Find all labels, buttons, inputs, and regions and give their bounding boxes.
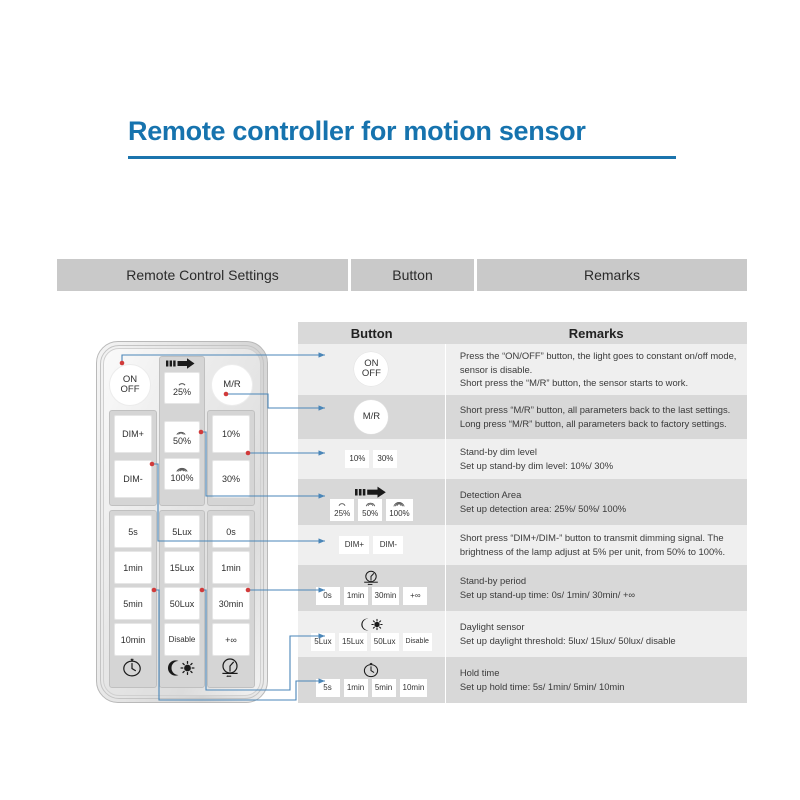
remote-detection-25-label: 25%	[173, 388, 191, 398]
row-mr-button-cell: M/R	[298, 395, 445, 439]
remote-hold-1min-label: 1min	[123, 563, 143, 573]
row-mr-remarks: Short press “M/R” button, all parameters…	[445, 395, 747, 439]
outer-header-remarks: Remarks	[477, 259, 747, 291]
row-on-off-button-cell: ON OFF	[298, 344, 445, 395]
moon-sun-icon	[356, 617, 386, 632]
row-on-off-remarks: Press the “ON/OFF” button, the light goe…	[445, 344, 747, 395]
remote-face: ON OFF M/R 25% 50%	[107, 352, 257, 692]
remote-hold-1min-button[interactable]: 1min	[114, 551, 152, 584]
row-detection-remarks: Detection Area Set up detection area: 25…	[445, 479, 747, 525]
table-row: 0s 1min 30min +∞ Stand-by period Set up …	[298, 565, 747, 611]
remote-standby-30min-label: 30min	[219, 599, 244, 609]
standby-button-group: 0s 1min 30min +∞	[298, 571, 445, 605]
hold-5min-button[interactable]: 5min	[372, 679, 396, 697]
remote-daylight-15lux-label: 15Lux	[170, 563, 195, 573]
remark-line: Set up hold time: 5s/ 1min/ 5min/ 10min	[460, 680, 743, 694]
detection-25-label: 25%	[334, 509, 350, 518]
remark-line: Short press “DIM+/DIM-” button to transm…	[460, 531, 743, 545]
remote-daylight-disable-button[interactable]: Disable	[164, 623, 200, 656]
remote-off-label: OFF	[121, 385, 140, 395]
daylight-15lux-button[interactable]: 15Lux	[339, 633, 367, 651]
remote-hold-5min-label: 5min	[123, 599, 143, 609]
remark-line: Set up daylight threshold: 5lux/ 15lux/ …	[460, 634, 743, 648]
remote-hold-5min-button[interactable]: 5min	[114, 587, 152, 620]
outer-header-remote-control-settings: Remote Control Settings	[57, 259, 348, 291]
remote-dim-plus-button[interactable]: DIM+	[114, 415, 152, 453]
daylight-disable-button[interactable]: Disable	[403, 633, 432, 651]
remark-line: Set up stand-by dim level: 10%/ 30%	[460, 459, 743, 473]
remote-daylight-50lux-label: 50Lux	[170, 599, 195, 609]
remote-standby-infinite-button[interactable]: +∞	[212, 623, 250, 656]
standby-1min-button[interactable]: 1min	[344, 587, 368, 605]
remark-line: Detection Area	[460, 488, 743, 502]
detection-arrow-icon	[159, 357, 203, 370]
remote-daylight-50lux-button[interactable]: 50Lux	[164, 587, 200, 620]
dim-level-10-button[interactable]: 10%	[345, 450, 369, 468]
remote-dim-level-30-button[interactable]: 30%	[212, 460, 250, 498]
row-dim-remarks: Short press “DIM+/DIM-” button to transm…	[445, 525, 747, 565]
remark-line: Set up stand-up time: 0s/ 1min/ 30min/ +…	[460, 588, 743, 602]
remote-dim-minus-label: DIM-	[123, 474, 143, 484]
daylight-5lux-button[interactable]: 5Lux	[311, 633, 335, 651]
standby-infinite-button[interactable]: +∞	[403, 587, 427, 605]
table-row: ON OFF Press the “ON/OFF” button, the li…	[298, 344, 747, 395]
detection-25-button[interactable]: 25%	[330, 499, 354, 521]
moon-sun-icon	[164, 655, 198, 681]
remote-standby-infinite-label: +∞	[225, 635, 237, 645]
detection-squares: 25% 50% 100%	[330, 499, 412, 521]
hold-time-squares: 5s 1min 5min 10min	[316, 679, 428, 697]
clock-icon	[362, 663, 380, 678]
remote-standby-0s-button[interactable]: 0s	[212, 515, 250, 548]
dim-level-button-group: 10% 30%	[298, 450, 445, 468]
dim-plus-button[interactable]: DIM+	[339, 536, 369, 554]
remark-line: Stand-by period	[460, 574, 743, 588]
row-hold-time-button-cell: 5s 1min 5min 10min	[298, 657, 445, 703]
remark-line: Set up detection area: 25%/ 50%/ 100%	[460, 502, 743, 516]
row-dim-button-cell: DIM+ DIM-	[298, 525, 445, 565]
remote-detection-25-button[interactable]: 25%	[164, 372, 200, 404]
detection-50-label: 50%	[362, 509, 378, 518]
remote-dim-minus-button[interactable]: DIM-	[114, 460, 152, 498]
hold-time-button-group: 5s 1min 5min 10min	[298, 663, 445, 697]
inner-table-header-row: Button Remarks	[298, 322, 747, 344]
hold-5s-button[interactable]: 5s	[316, 679, 340, 697]
remote-standby-1min-button[interactable]: 1min	[212, 551, 250, 584]
standby-30min-button[interactable]: 30min	[372, 587, 400, 605]
detection-100-label: 100%	[389, 509, 409, 518]
title-block: Remote controller for motion sensor	[128, 116, 676, 159]
wave-3-icon	[393, 501, 405, 509]
table-row: DIM+ DIM- Short press “DIM+/DIM-” button…	[298, 525, 747, 565]
remote-on-off-button[interactable]: ON OFF	[109, 364, 151, 406]
remote-hold-5s-button[interactable]: 5s	[114, 515, 152, 548]
table-row: 5Lux 15Lux 50Lux Disable Daylight sensor…	[298, 611, 747, 657]
remote-detection-100-button[interactable]: 100%	[164, 458, 200, 490]
detection-100-button[interactable]: 100%	[386, 499, 412, 521]
row-dim-level-remarks: Stand-by dim level Set up stand-by dim l…	[445, 439, 747, 479]
dim-button-group: DIM+ DIM-	[298, 536, 445, 554]
gauge-icon	[361, 571, 381, 586]
mr-button[interactable]: M/R	[354, 400, 388, 434]
row-daylight-remarks: Daylight sensor Set up daylight threshol…	[445, 611, 747, 657]
wave-2-icon	[365, 501, 376, 509]
standby-squares: 0s 1min 30min +∞	[316, 587, 428, 605]
remote-mr-button[interactable]: M/R	[211, 364, 253, 406]
clock-icon	[114, 655, 150, 681]
gauge-icon	[212, 655, 248, 681]
hold-10min-button[interactable]: 10min	[400, 679, 428, 697]
remote-hold-10min-button[interactable]: 10min	[114, 623, 152, 656]
remark-line: Daylight sensor	[460, 620, 743, 634]
detection-arrow-icon	[355, 483, 387, 498]
remark-line: Short press “M/R” button, all parameters…	[460, 403, 743, 417]
row-daylight-button-cell: 5Lux 15Lux 50Lux Disable	[298, 611, 445, 657]
row-standby-remarks: Stand-by period Set up stand-up time: 0s…	[445, 565, 747, 611]
wave-1-icon	[337, 501, 347, 509]
remote-daylight-disable-label: Disable	[169, 635, 196, 644]
row-hold-time-remarks: Hold time Set up hold time: 5s/ 1min/ 5m…	[445, 657, 747, 703]
remote-dim-level-30-label: 30%	[222, 474, 240, 484]
dim-minus-button[interactable]: DIM-	[373, 536, 403, 554]
table-row: M/R Short press “M/R” button, all parame…	[298, 395, 747, 439]
remote-hold-10min-label: 10min	[121, 635, 146, 645]
remark-line: Press the “ON/OFF” button, the light goe…	[460, 349, 743, 363]
title-underline	[128, 156, 676, 159]
inner-header-remarks: Remarks	[445, 322, 747, 344]
remote-mr-label: M/R	[223, 380, 240, 390]
off-label: OFF	[362, 369, 381, 379]
remark-line: sensor is disable.	[460, 363, 743, 377]
remote-detection-50-button[interactable]: 50%	[164, 421, 200, 453]
remote-standby-1min-label: 1min	[221, 563, 241, 573]
remote-daylight-5lux-label: 5Lux	[172, 527, 192, 537]
remote-standby-0s-label: 0s	[226, 527, 236, 537]
detection-button-group: 25% 50% 100%	[298, 483, 445, 521]
inner-header-button: Button	[298, 322, 445, 344]
daylight-button-group: 5Lux 15Lux 50Lux Disable	[298, 617, 445, 651]
row-detection-button-cell: 25% 50% 100%	[298, 479, 445, 525]
dim-level-30-button[interactable]: 30%	[373, 450, 397, 468]
remote-standby-30min-button[interactable]: 30min	[212, 587, 250, 620]
table-row: 10% 30% Stand-by dim level Set up stand-…	[298, 439, 747, 479]
detection-50-button[interactable]: 50%	[358, 499, 382, 521]
row-standby-button-cell: 0s 1min 30min +∞	[298, 565, 445, 611]
remote-dim-plus-label: DIM+	[122, 429, 144, 439]
remote-dim-level-10-label: 10%	[222, 429, 240, 439]
remote-daylight-5lux-button[interactable]: 5Lux	[164, 515, 200, 548]
remark-line: brightness of the lamp adjust at 5% per …	[460, 545, 743, 559]
mr-label: M/R	[363, 412, 380, 422]
daylight-squares: 5Lux 15Lux 50Lux Disable	[311, 633, 432, 651]
remote-detection-50-label: 50%	[173, 437, 191, 447]
row-dim-level-button-cell: 10% 30%	[298, 439, 445, 479]
remark-line: Hold time	[460, 666, 743, 680]
table-row: 25% 50% 100%	[298, 479, 747, 525]
remote-detection-100-label: 100%	[170, 474, 193, 484]
standby-0s-button[interactable]: 0s	[316, 587, 340, 605]
remote-dim-level-10-button[interactable]: 10%	[212, 415, 250, 453]
remark-line: Short press the “M/R” button, the sensor…	[460, 376, 743, 390]
remark-line: Long press “M/R” button, all parameters …	[460, 417, 743, 431]
on-off-button[interactable]: ON OFF	[354, 352, 388, 386]
daylight-50lux-button[interactable]: 50Lux	[371, 633, 399, 651]
remote-hold-5s-label: 5s	[128, 527, 138, 537]
page-title: Remote controller for motion sensor	[128, 116, 676, 147]
outer-table-header: Remote Control Settings Button Remarks	[57, 259, 747, 291]
remote-control-device: ON OFF M/R 25% 50%	[96, 341, 268, 703]
remark-line: Stand-by dim level	[460, 445, 743, 459]
outer-header-button: Button	[351, 259, 474, 291]
remote-daylight-15lux-button[interactable]: 15Lux	[164, 551, 200, 584]
settings-table: Button Remarks ON OFF Press the “ON/OFF”…	[298, 322, 747, 703]
table-row: 5s 1min 5min 10min Hold time Set up hold…	[298, 657, 747, 703]
hold-1min-button[interactable]: 1min	[344, 679, 368, 697]
